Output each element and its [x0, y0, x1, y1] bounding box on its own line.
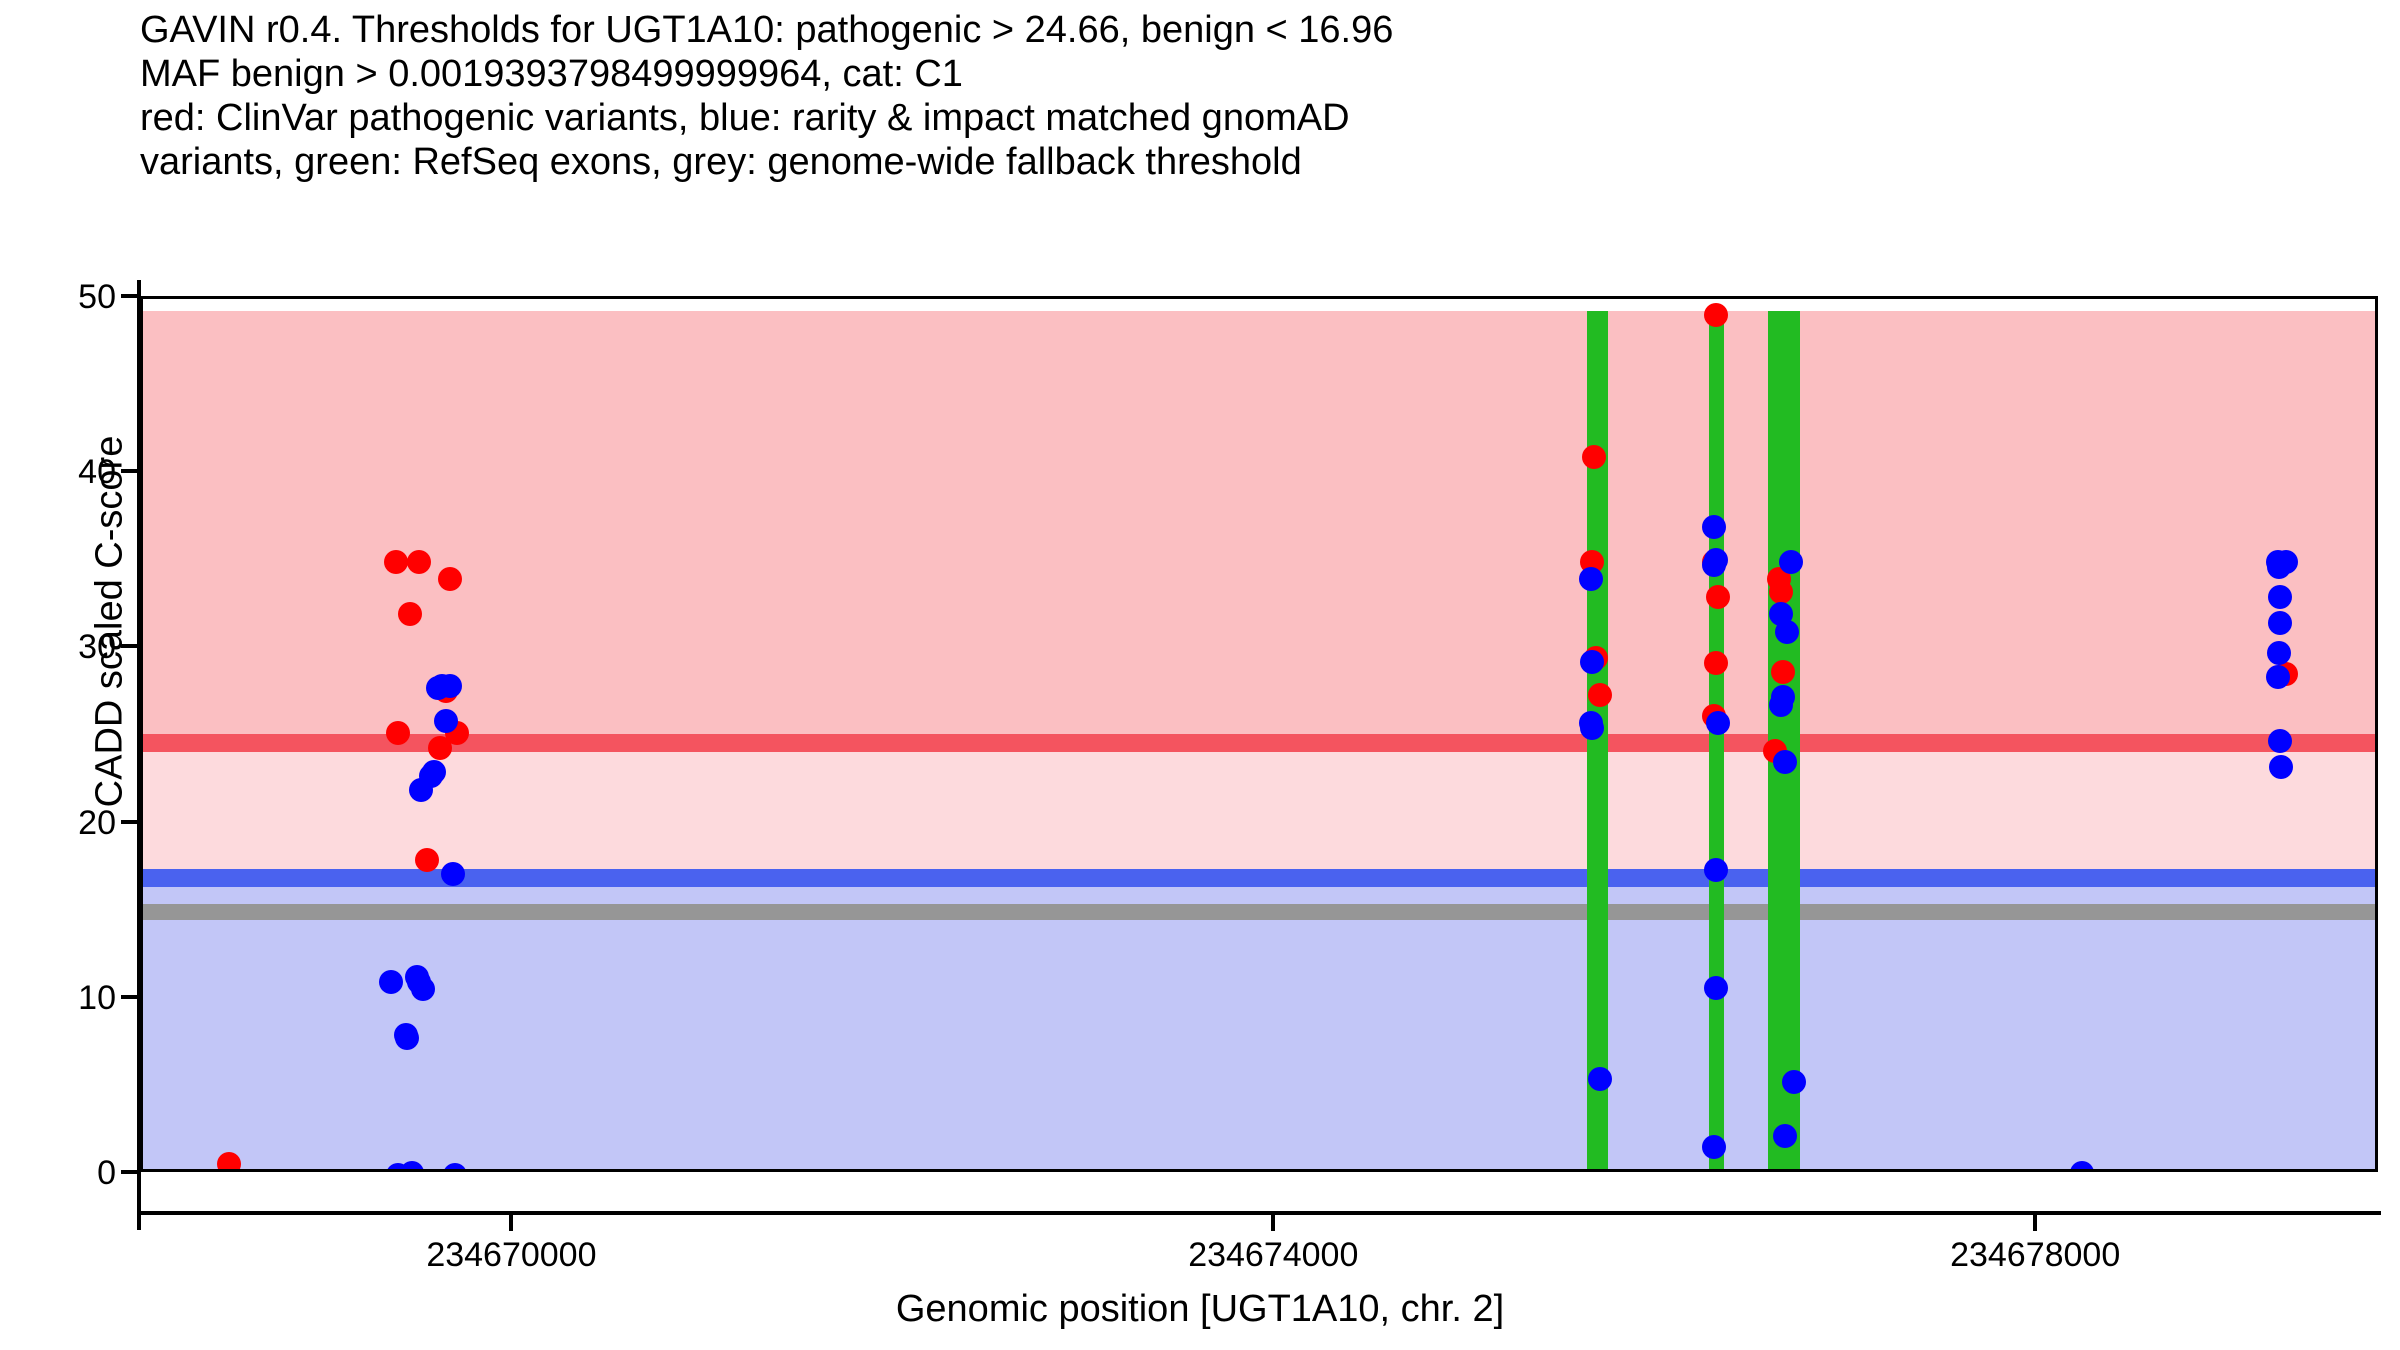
- y-tick-mark: [121, 1170, 137, 1174]
- data-point: [2268, 611, 2292, 635]
- plot-inner: [143, 299, 2375, 1169]
- x-tick-label: 234670000: [361, 1236, 661, 1275]
- y-axis-title: CADD scaled C-score: [89, 342, 132, 902]
- data-point: [2268, 585, 2292, 609]
- data-point: [395, 1026, 419, 1050]
- data-point: [398, 602, 422, 626]
- data-point: [1702, 515, 1726, 539]
- data-point: [1779, 550, 1803, 574]
- data-point: [1704, 303, 1728, 327]
- data-point: [1775, 620, 1799, 644]
- pathogenic-band: [143, 311, 2375, 743]
- data-point: [1706, 585, 1730, 609]
- exon-bar-2: [1709, 311, 1724, 1169]
- x-tick-label: 234674000: [1123, 1236, 1423, 1275]
- data-point: [1580, 650, 1604, 674]
- data-point: [407, 550, 431, 574]
- y-tick-label: 50: [0, 278, 116, 317]
- title-line-1: GAVIN r0.4. Thresholds for UGT1A10: path…: [140, 8, 2240, 52]
- y-tick-mark: [121, 995, 137, 999]
- y-tick-label: 0: [0, 1154, 116, 1193]
- y-axis-line: [137, 280, 141, 1230]
- data-point: [2267, 555, 2291, 579]
- data-point: [379, 970, 403, 994]
- data-point: [438, 674, 462, 698]
- chart-root: GAVIN r0.4. Thresholds for UGT1A10: path…: [0, 0, 2400, 1350]
- data-point: [2268, 729, 2292, 753]
- title-line-3: red: ClinVar pathogenic variants, blue: …: [140, 96, 2240, 140]
- data-point: [438, 567, 462, 591]
- benign-threshold-line: [143, 869, 2375, 887]
- data-point: [1580, 716, 1604, 740]
- data-point: [384, 550, 408, 574]
- x-axis-line: [137, 1211, 2381, 1215]
- pathogenic-threshold-line: [143, 734, 2375, 752]
- data-point: [1588, 1067, 1612, 1091]
- x-tick-mark: [1271, 1215, 1275, 1231]
- x-tick-label: 234678000: [1885, 1236, 2185, 1275]
- data-point: [1706, 711, 1730, 735]
- title-line-2: MAF benign > 0.0019393798499999964, cat:…: [140, 52, 2240, 96]
- data-point: [1588, 683, 1612, 707]
- y-tick-mark: [121, 294, 137, 298]
- data-point: [434, 709, 458, 733]
- data-point: [1582, 445, 1606, 469]
- benign-band: [143, 878, 2375, 1172]
- data-point: [415, 848, 439, 872]
- title-line-4: variants, green: RefSeq exons, grey: gen…: [140, 140, 2240, 184]
- data-point: [1579, 567, 1603, 591]
- x-tick-mark: [509, 1215, 513, 1231]
- y-tick-label: 10: [0, 979, 116, 1018]
- data-point: [1773, 750, 1797, 774]
- data-point: [1771, 660, 1795, 684]
- data-point: [2269, 755, 2293, 779]
- fallback-threshold-line: [143, 904, 2375, 920]
- x-tick-mark: [2033, 1215, 2037, 1231]
- data-point: [1769, 580, 1793, 604]
- data-point: [217, 1152, 241, 1172]
- x-axis-title: Genomic position [UGT1A10, chr. 2]: [0, 1288, 2400, 1331]
- data-point: [1704, 976, 1728, 1000]
- data-point: [441, 862, 465, 886]
- plot-panel: [140, 296, 2378, 1172]
- data-point: [2267, 641, 2291, 665]
- ambiguous-band: [143, 743, 2375, 878]
- exon-bar-1: [1587, 311, 1608, 1169]
- chart-title-block: GAVIN r0.4. Thresholds for UGT1A10: path…: [140, 8, 2240, 184]
